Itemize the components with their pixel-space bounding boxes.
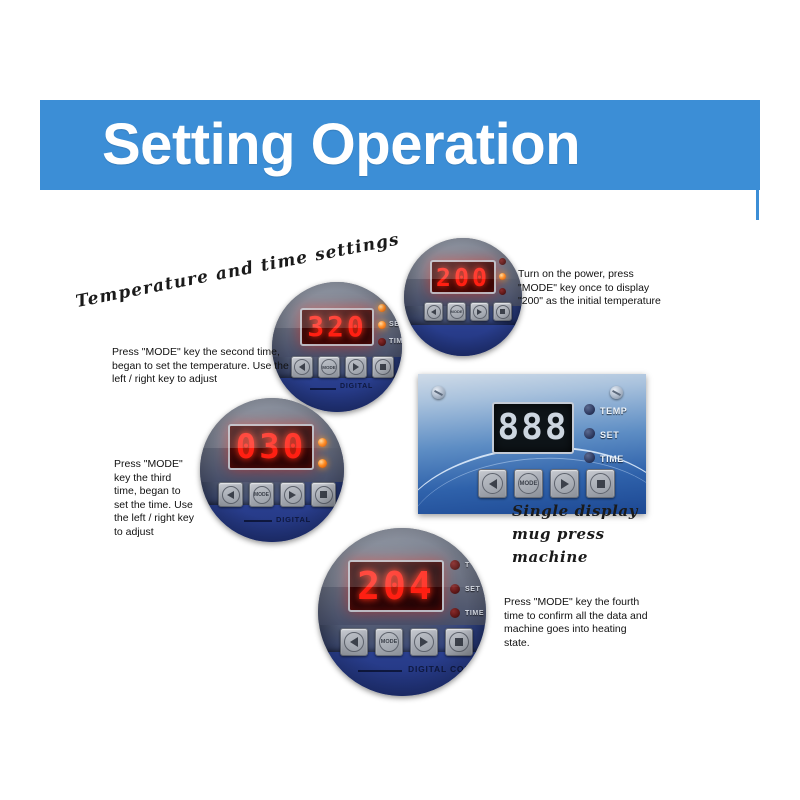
button-left-200[interactable] <box>424 302 443 321</box>
note-line: Press "MODE" key the fourth <box>504 596 684 610</box>
right-triangle-icon <box>284 486 302 504</box>
panel-button-left[interactable] <box>478 469 507 498</box>
left-triangle-icon <box>427 305 441 319</box>
side-label-temp-204: T <box>465 562 470 569</box>
note-line: machine goes into heating <box>504 623 684 637</box>
note-line: the left / right key <box>114 512 222 526</box>
mode-icon: MODE <box>379 632 399 652</box>
note-step-204: Press "MODE" key the fourth time to conf… <box>504 596 684 650</box>
stop-square-icon <box>590 473 611 494</box>
digital-tag-030: DIGITAL <box>276 515 311 524</box>
left-triangle-icon <box>222 486 240 504</box>
seven-segment-display-030: 030 <box>228 424 314 470</box>
panel-button-right[interactable] <box>550 469 579 498</box>
note-line: Press "MODE" <box>114 458 222 472</box>
side-label-set-204: SET <box>465 586 480 593</box>
note-line: Press "MODE" key the second time, <box>112 346 312 360</box>
led-set-204 <box>450 584 460 594</box>
mode-icon: MODE <box>518 473 539 494</box>
led-temp-200 <box>499 258 506 265</box>
panel-label-set: SET <box>600 430 619 440</box>
led-time-200 <box>499 288 506 295</box>
digital-underline <box>244 520 272 522</box>
note-line: set the time. Use <box>114 499 222 513</box>
poster-canvas: Setting Operation Temperature and time s… <box>0 0 800 800</box>
button-right-030[interactable] <box>280 482 305 507</box>
seven-segment-display-200: 200 <box>430 260 496 294</box>
note-line: left / right key to adjust <box>112 373 312 387</box>
panel-button-stop[interactable] <box>586 469 615 498</box>
digital-tag-320: DIGITAL <box>340 383 373 390</box>
stop-square-icon <box>496 305 510 319</box>
single-display-panel-photo: 888 TEMP SET TIME MODE <box>418 374 646 514</box>
stop-square-icon <box>315 486 333 504</box>
panel-button-row: MODE <box>478 469 615 498</box>
button-stop-200[interactable] <box>493 302 512 321</box>
note-line: began to set the temperature. Use the <box>112 360 312 374</box>
led-temp-panel <box>584 404 595 415</box>
led-temp-320 <box>378 304 386 312</box>
mode-icon: MODE <box>321 359 337 375</box>
note-line: state. <box>504 637 684 651</box>
note-line: time to confirm all the data and <box>504 610 684 624</box>
display-value-204: 204 <box>357 567 435 605</box>
led-set-panel <box>584 428 595 439</box>
button-right-320[interactable] <box>345 356 367 378</box>
panel-label-time: TIME <box>600 454 624 464</box>
note-line: key the third <box>114 472 222 486</box>
digital-underline <box>358 670 402 672</box>
screw-top-right <box>610 386 623 399</box>
note-line: to adjust <box>114 526 222 540</box>
mode-icon: MODE <box>450 305 464 319</box>
button-row-030: MODE <box>218 482 336 507</box>
side-label-time-204: TIME <box>465 610 484 617</box>
digital-tag-204: DIGITAL CON <box>408 664 471 674</box>
callout-disc-204: 204 T SET TIME MODE <box>318 528 486 696</box>
button-mode-320[interactable]: MODE <box>318 356 340 378</box>
note-line: "MODE" key once to display <box>518 282 708 296</box>
digital-underline <box>310 388 336 390</box>
led-time-320 <box>378 338 386 346</box>
right-triangle-icon <box>348 359 364 375</box>
panel-display-value: 888 <box>497 410 568 446</box>
led-time-204 <box>450 608 460 618</box>
button-mode-204[interactable]: MODE <box>375 628 403 656</box>
page-title: Setting Operation <box>102 116 580 174</box>
button-row-204: MODE <box>340 628 473 656</box>
seven-segment-display-204: 204 <box>348 560 444 612</box>
machine-plate-bottom <box>318 652 486 696</box>
button-mode-030[interactable]: MODE <box>249 482 274 507</box>
note-step-320: Press "MODE" key the second time, began … <box>112 346 312 387</box>
button-mode-200[interactable]: MODE <box>447 302 466 321</box>
right-triangle-icon <box>414 632 434 652</box>
display-value-320: 320 <box>307 313 367 341</box>
button-right-200[interactable] <box>470 302 489 321</box>
led-set-320 <box>378 321 386 329</box>
button-right-204[interactable] <box>410 628 438 656</box>
screw-top-left <box>432 386 445 399</box>
display-value-030: 030 <box>236 430 306 464</box>
mode-icon: MODE <box>253 486 271 504</box>
note-line: Turn on the power, press <box>518 268 708 282</box>
panel-label-temp: TEMP <box>600 406 627 416</box>
led-set-030 <box>318 438 327 447</box>
note-line: "200" as the initial temperature <box>518 295 708 309</box>
machine-plate-bottom <box>404 325 522 356</box>
button-row-200: MODE <box>424 302 512 321</box>
display-value-200: 200 <box>436 265 490 290</box>
panel-seven-segment-display: 888 <box>492 402 574 454</box>
left-triangle-icon <box>482 473 503 494</box>
led-set-200 <box>499 273 506 280</box>
button-stop-320[interactable] <box>372 356 394 378</box>
right-triangle-icon <box>554 473 575 494</box>
button-stop-030[interactable] <box>311 482 336 507</box>
seven-segment-display-320: 320 <box>300 308 374 346</box>
mug-press-caption: Single display mug press machine <box>512 500 672 569</box>
right-triangle-icon <box>473 305 487 319</box>
callout-disc-200: 200 MODE <box>404 238 522 356</box>
led-temp-204 <box>450 560 460 570</box>
note-step-200: Turn on the power, press "MODE" key once… <box>518 268 708 309</box>
banner-edge-tick <box>756 190 759 220</box>
panel-button-mode[interactable]: MODE <box>514 469 543 498</box>
led-time-panel <box>584 452 595 463</box>
button-left-204[interactable] <box>340 628 368 656</box>
led-time-030 <box>318 459 327 468</box>
title-banner: Setting Operation <box>40 100 760 190</box>
stop-square-icon <box>375 359 391 375</box>
note-step-030: Press "MODE" key the third time, began t… <box>114 458 222 539</box>
left-triangle-icon <box>344 632 364 652</box>
stop-square-icon <box>449 632 469 652</box>
button-stop-204[interactable] <box>445 628 473 656</box>
note-line: time, began to <box>114 485 222 499</box>
